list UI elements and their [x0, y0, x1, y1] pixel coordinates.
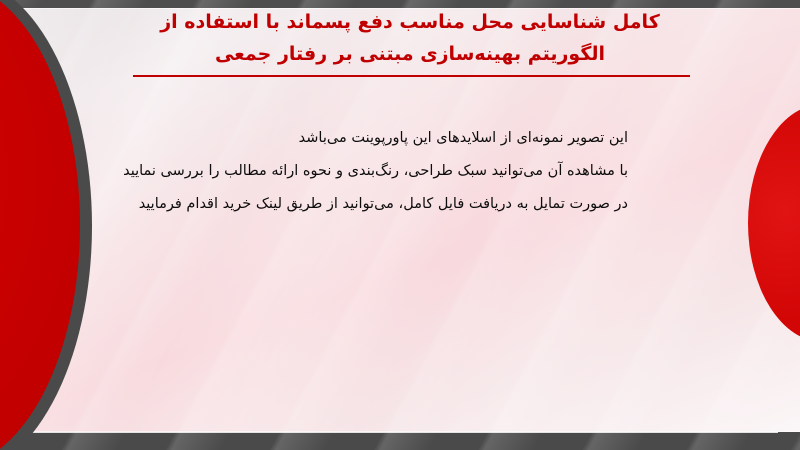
title-underline-rule — [133, 75, 690, 77]
slide-body-text: این تصویر نمونه‌ای از اسلایدهای این پاور… — [108, 122, 628, 221]
slide-title-line-1: کامل شناسایی محل مناسب دفع پسماند با است… — [120, 6, 700, 38]
slide-body-line-2: با مشاهده آن می‌توانید سبک طراحی، رنگ‌بن… — [108, 155, 628, 188]
slide-body-line-1: این تصویر نمونه‌ای از اسلایدهای این پاور… — [108, 122, 628, 155]
presentation-slide: کامل شناسایی محل مناسب دفع پسماند با است… — [0, 0, 800, 450]
panel-bottom-edge-highlight — [22, 432, 778, 433]
slide-title-line-2: الگوریتم بهینه‌سازی مبتنی بر رفتار جمعی — [120, 38, 700, 70]
slide-body-line-3: در صورت تمایل به دریافت فایل کامل، می‌تو… — [108, 188, 628, 221]
slide-title: کامل شناسایی محل مناسب دفع پسماند با است… — [120, 6, 700, 70]
